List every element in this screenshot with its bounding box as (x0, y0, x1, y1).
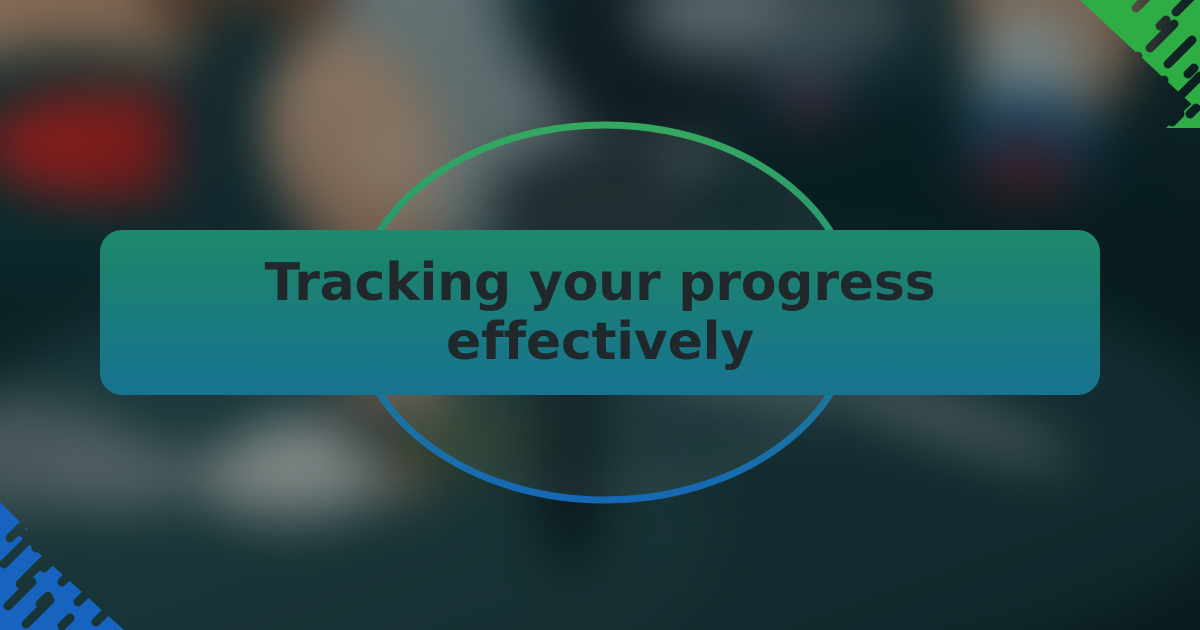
banner-root: Tracking your progress effectively (0, 0, 1200, 630)
title-banner: Tracking your progress effectively (100, 230, 1100, 395)
page-title: Tracking your progress effectively (220, 254, 980, 370)
